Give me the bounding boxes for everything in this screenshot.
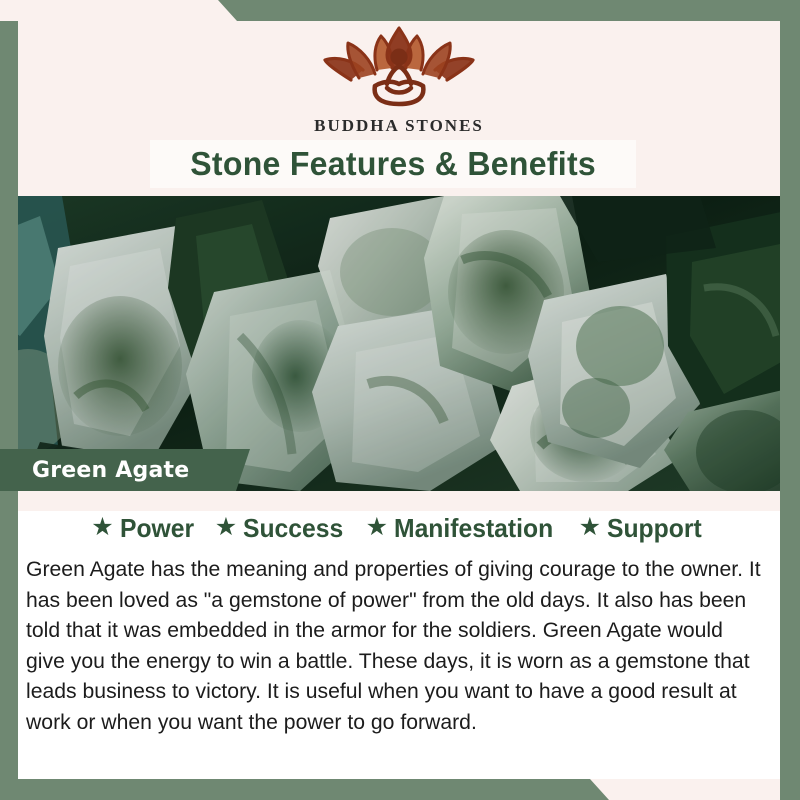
lotus-meditating-figure-icon — [315, 26, 483, 112]
infographic-page: BUDDHA STONES Stone Features & Benefits — [0, 0, 800, 800]
star-icon: ★ — [579, 515, 601, 540]
decor-right-bar — [780, 0, 800, 800]
decor-top-bar — [0, 0, 800, 21]
title-plate: Stone Features & Benefits — [150, 140, 636, 188]
decor-left-bar — [0, 21, 18, 800]
stone-photo — [0, 196, 800, 491]
star-icon: ★ — [91, 515, 113, 540]
stone-photo-art — [0, 196, 800, 491]
page-title: Stone Features & Benefits — [190, 145, 596, 183]
content-top-strip — [18, 491, 780, 511]
brand-logo: BUDDHA STONES — [18, 26, 780, 136]
star-icon: ★ — [215, 515, 237, 540]
benefit-label: Power — [120, 513, 194, 544]
benefit-label: Success — [243, 513, 343, 544]
star-icon: ★ — [366, 515, 388, 540]
benefit-item: ★ Success — [215, 513, 349, 544]
benefits-row: ★ Power ★ Success ★ Manifestation ★ Supp… — [18, 513, 780, 544]
decor-bottom-bar — [0, 779, 800, 800]
content-card: ★ Power ★ Success ★ Manifestation ★ Supp… — [18, 491, 780, 779]
stone-name-text: Green Agate — [32, 458, 189, 483]
stone-name-banner: Green Agate — [0, 449, 250, 491]
stone-description: Green Agate has the meaning and properti… — [26, 554, 767, 737]
benefit-label: Manifestation — [394, 513, 553, 544]
benefit-item: ★ Support — [579, 513, 707, 544]
benefit-item: ★ Power — [91, 513, 197, 544]
brand-name: BUDDHA STONES — [314, 116, 484, 136]
benefit-item: ★ Manifestation — [366, 513, 562, 544]
benefit-label: Support — [607, 513, 702, 544]
